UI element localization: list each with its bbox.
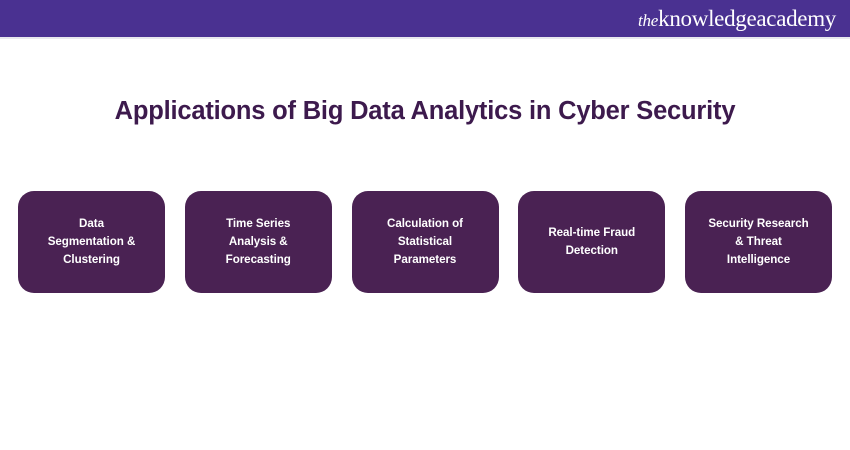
application-card-label: Time Series Analysis & Forecasting [226,215,291,269]
application-card-3[interactable]: Calculation of Statistical Parameters [352,191,499,293]
page-title: Applications of Big Data Analytics in Cy… [0,96,850,127]
logo-text-the: the [638,12,658,29]
theknowledgeacademy-logo[interactable]: theknowledgeacademy [638,7,836,30]
logo-text-knowledge: knowledge [658,7,756,30]
application-card-2[interactable]: Time Series Analysis & Forecasting [185,191,332,293]
application-card-label: Calculation of Statistical Parameters [387,215,463,269]
application-card-4[interactable]: Real-time Fraud Detection [518,191,665,293]
header-divider [0,37,850,39]
application-card-5[interactable]: Security Research & Threat Intelligence [685,191,832,293]
application-card-1[interactable]: Data Segmentation & Clustering [18,191,165,293]
application-card-label: Data Segmentation & Clustering [48,215,136,269]
header-bar: theknowledgeacademy [0,0,850,37]
application-card-label: Real-time Fraud Detection [548,224,635,260]
application-card-label: Security Research & Threat Intelligence [708,215,808,269]
application-card-row: Data Segmentation & Clustering Time Seri… [18,191,832,293]
logo-text-academy: academy [756,7,836,30]
